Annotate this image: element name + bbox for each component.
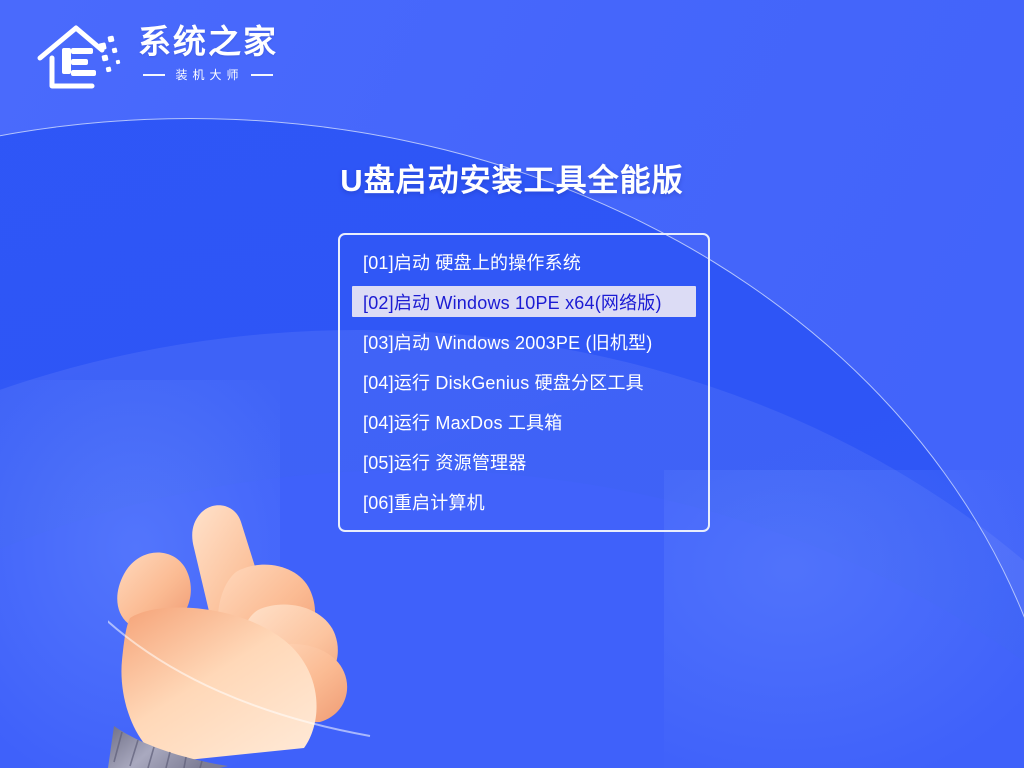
boot-menu-list[interactable]: [01]启动 硬盘上的操作系统 [02]启动 Windows 10PE x64(… [352,246,696,526]
page-title: U盘启动安装工具全能版 [0,155,1024,200]
boot-menu-screen: 系统之家 装机大师 U盘启动安装工具全能版 [01]启动 硬盘上的操作系统 [0… [0,0,1024,768]
brand-tagline: 装机大师 [172,66,243,83]
boot-menu-box: [01]启动 硬盘上的操作系统 [02]启动 Windows 10PE x64(… [338,233,710,532]
pointing-hand-illustration [108,500,408,768]
brand-text: 系统之家 装机大师 [138,25,278,88]
brand-tagline-row: 装机大师 [143,66,272,83]
brand-logo: 系统之家 装机大师 [36,18,278,94]
tagline-rule-right [251,74,273,76]
boot-menu-item-05[interactable]: [05]运行 资源管理器 [352,446,696,477]
brand-name: 系统之家 [138,25,278,60]
boot-menu-item-04-maxdos[interactable]: [04]运行 MaxDos 工具箱 [352,406,696,437]
boot-menu-item-01[interactable]: [01]启动 硬盘上的操作系统 [352,246,696,277]
boot-menu-item-03[interactable]: [03]启动 Windows 2003PE (旧机型) [352,326,696,357]
tagline-rule-left [143,74,165,76]
boot-menu-item-04-diskgenius[interactable]: [04]运行 DiskGenius 硬盘分区工具 [352,366,696,397]
house-pixel-logo-icon [36,18,132,94]
background-glow-right [664,470,1024,768]
boot-menu-item-02[interactable]: [02]启动 Windows 10PE x64(网络版) [352,286,696,317]
